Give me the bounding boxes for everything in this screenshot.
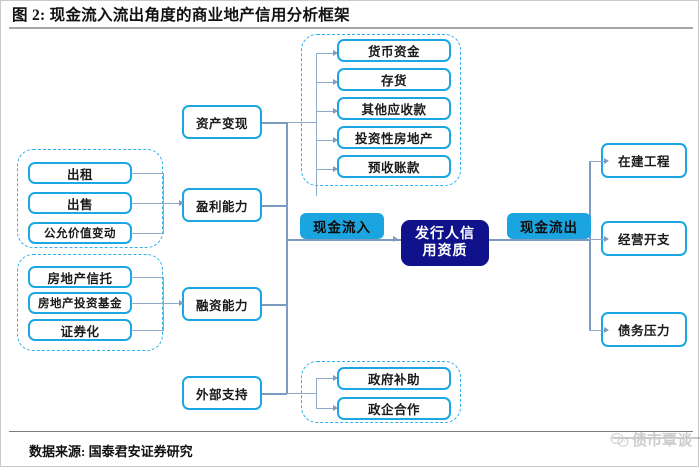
arrow-profitability-to-driver <box>179 200 184 206</box>
figure-container: 图 2: 现金流入流出角度的商业地产信用分析框架 <box>0 0 699 467</box>
node-outflow-item-1[interactable]: 经营开支 <box>601 221 687 256</box>
arrow-asset-item-1 <box>333 79 338 85</box>
arrow-asset-item-0 <box>333 50 338 56</box>
wechat-icon <box>610 431 630 449</box>
node-driver-profitability[interactable]: 盈利能力 <box>182 188 262 222</box>
arrow-financing-to-driver <box>179 300 184 306</box>
connector-profitability-item-0 <box>131 173 164 174</box>
connector-driver-profit-to-trunk <box>262 205 287 207</box>
label-cash-inflow: 现金流入 <box>300 213 384 239</box>
connector-core-to-outflow <box>488 239 590 241</box>
arrow-external-item-1 <box>333 405 338 411</box>
connector-driver-asset-to-trunk <box>262 122 287 124</box>
source-note: 数据来源: 国泰君安证券研究 <box>29 441 193 460</box>
connector-inflow-to-core <box>286 239 401 241</box>
arrow-outflow-item-0 <box>604 158 609 164</box>
node-outflow-item-0[interactable]: 在建工程 <box>601 143 687 178</box>
connector-inflow-trunk <box>286 122 288 394</box>
connector-outflow-trunk <box>589 161 591 331</box>
watermark-strike <box>612 437 700 439</box>
connector-external-items-trunk <box>316 378 317 409</box>
label-cash-outflow: 现金流出 <box>507 213 591 239</box>
arrow-external-item-0 <box>333 375 338 381</box>
connector-financing-item-0 <box>131 277 164 278</box>
watermark: 债市覃谈 <box>610 429 692 450</box>
connector-financing-item-2 <box>131 330 164 331</box>
node-driver-external-support[interactable]: 外部支持 <box>182 376 262 410</box>
group-frame-asset-realization <box>301 34 461 186</box>
watermark-text: 债市覃谈 <box>632 429 692 450</box>
group-frame-external-support <box>301 361 461 423</box>
arrow-outflow-item-2 <box>604 327 609 333</box>
connector-financing-item-1 <box>131 303 164 304</box>
core-label-line-1: 发行人信 <box>415 227 475 242</box>
node-issuer-credit-quality[interactable]: 发行人信 用资质 <box>401 220 489 266</box>
connector-asset-items-trunk <box>316 53 317 196</box>
arrow-inflow-to-core <box>393 236 398 242</box>
node-driver-financing[interactable]: 融资能力 <box>182 287 262 321</box>
arrow-outflow-item-1 <box>604 236 609 242</box>
arrow-asset-item-3 <box>333 137 338 143</box>
connector-profitability-item-2 <box>131 233 164 234</box>
core-label-line-2: 用资质 <box>423 244 468 259</box>
connector-driver-financing-to-trunk <box>262 304 287 306</box>
connector-driver-external-to-trunk <box>262 393 287 395</box>
title-divider <box>9 27 693 29</box>
arrow-asset-item-4 <box>333 166 338 172</box>
node-outflow-item-2[interactable]: 债务压力 <box>601 312 687 347</box>
footer-divider <box>9 431 693 432</box>
connector-profitability-item-1 <box>131 203 164 204</box>
arrow-asset-item-2 <box>333 108 338 114</box>
node-driver-asset-realization[interactable]: 资产变现 <box>182 105 262 139</box>
figure-title: 图 2: 现金流入流出角度的商业地产信用分析框架 <box>12 3 350 25</box>
